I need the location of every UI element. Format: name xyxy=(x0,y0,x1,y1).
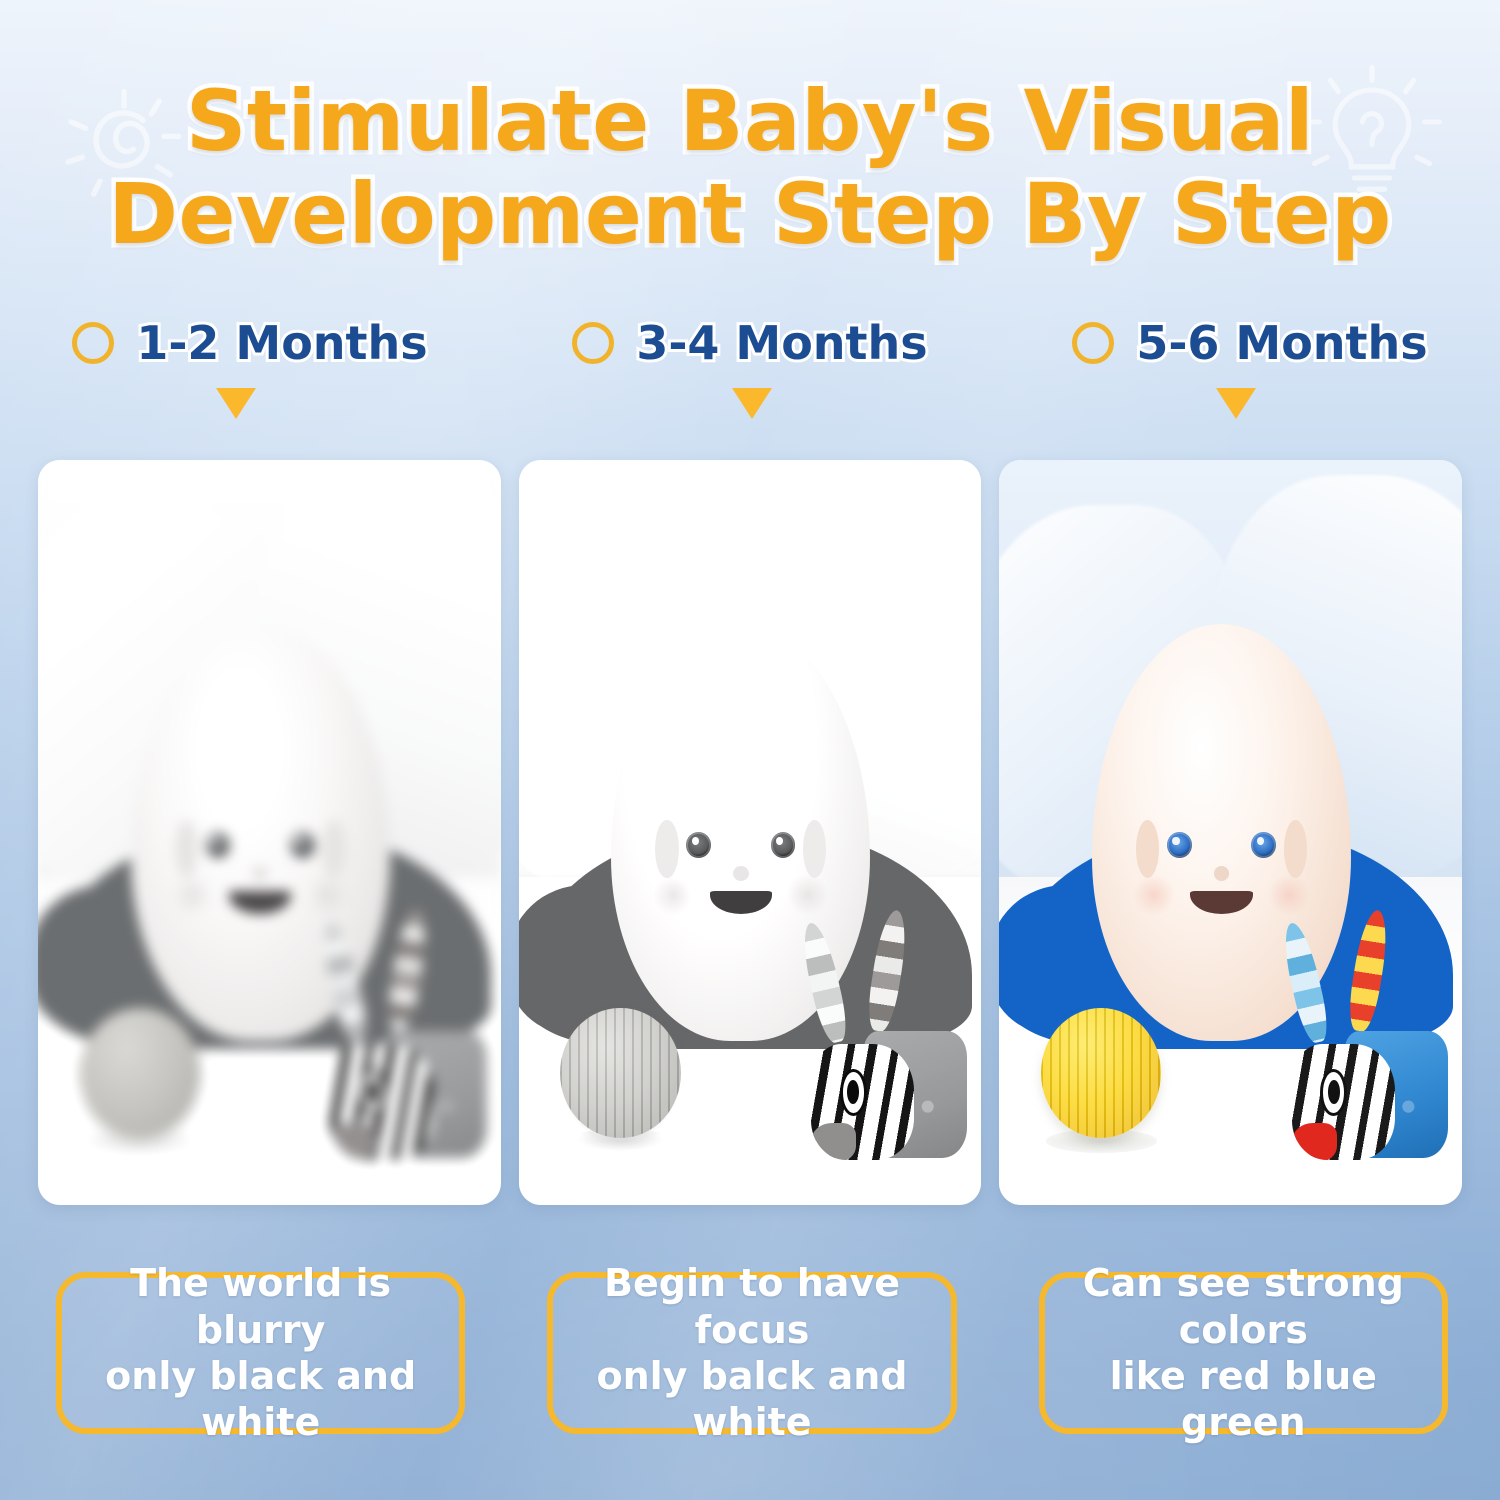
caption-box-3: Can see strong colors like red blue gree… xyxy=(1039,1272,1448,1434)
poster-root: Stimulate Baby's Visual Development Step… xyxy=(0,0,1500,1500)
triangle-down-icon xyxy=(216,388,256,419)
caption-row: The world is blurry only black and white… xyxy=(56,1272,1448,1434)
stage-label-2: 3-4 Months xyxy=(636,316,927,370)
circle-ring-icon xyxy=(1072,322,1114,364)
caption-box-2: Begin to have focus only balck and white xyxy=(547,1272,956,1434)
stage-header-1: 1-2 Months xyxy=(0,312,500,442)
circle-ring-icon xyxy=(72,322,114,364)
photo-panel-3 xyxy=(999,460,1462,1205)
circle-ring-icon xyxy=(572,322,614,364)
caption-text-3: Can see strong colors like red blue gree… xyxy=(1055,1260,1432,1445)
stage-label-1: 1-2 Months xyxy=(136,316,427,370)
photo-panel-1 xyxy=(38,460,501,1205)
caption-box-1: The world is blurry only black and white xyxy=(56,1272,465,1434)
stage-label-3: 5-6 Months xyxy=(1136,316,1427,370)
baby-photo-blurred-grayscale xyxy=(38,460,501,1205)
triangle-down-icon xyxy=(1216,388,1256,419)
caption-text-2: Begin to have focus only balck and white xyxy=(563,1260,940,1445)
photo-panel-2 xyxy=(519,460,982,1205)
title-line-2: Development Step By Step xyxy=(0,169,1500,260)
stage-header-row: 1-2 Months 3-4 Months 5-6 Months xyxy=(0,312,1500,442)
stage-header-2: 3-4 Months xyxy=(500,312,1000,442)
page-title: Stimulate Baby's Visual Development Step… xyxy=(0,76,1500,259)
caption-text-1: The world is blurry only black and white xyxy=(72,1260,449,1445)
photo-panel-row xyxy=(38,460,1462,1205)
stage-header-3: 5-6 Months xyxy=(1000,312,1500,442)
title-line-1: Stimulate Baby's Visual xyxy=(0,76,1500,167)
baby-photo-full-color xyxy=(999,460,1462,1205)
triangle-down-icon xyxy=(732,388,772,419)
baby-photo-sharp-grayscale xyxy=(519,460,982,1205)
